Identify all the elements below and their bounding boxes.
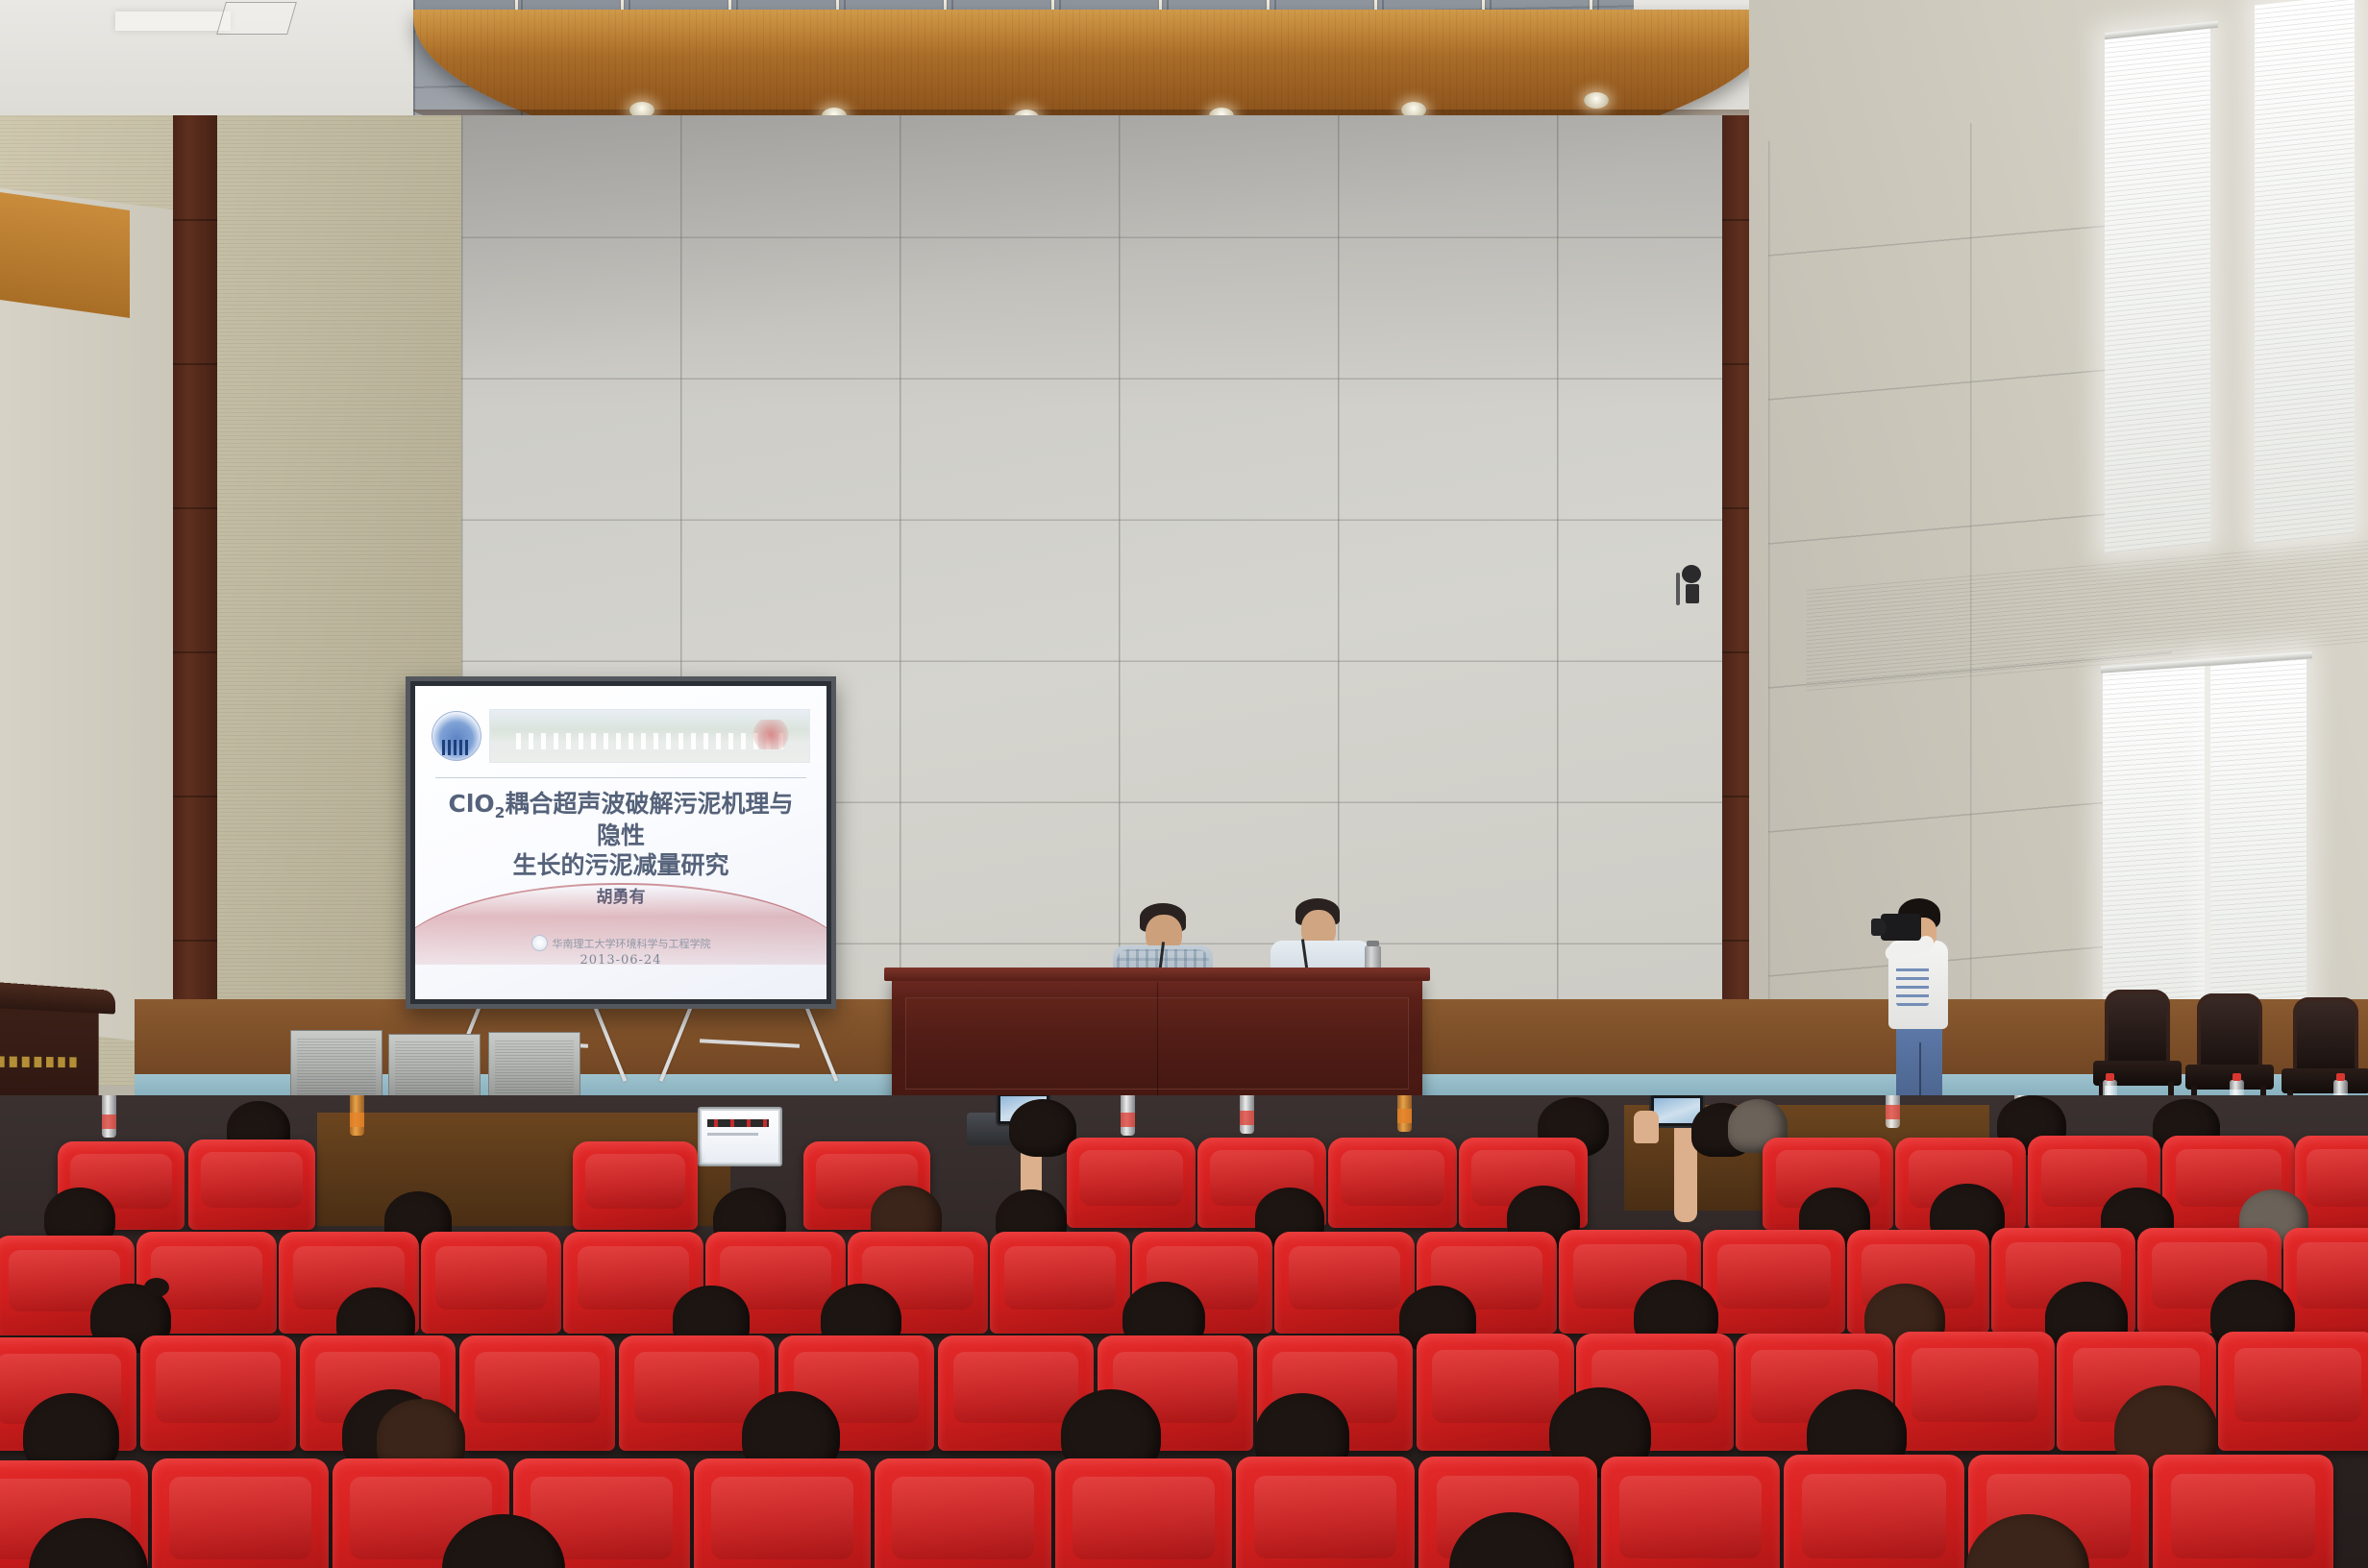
chair-back [2293, 997, 2358, 1074]
bottle-label [1240, 1111, 1254, 1125]
bottle-cap [2336, 1073, 2345, 1081]
slide-content: ClO2耦合超声波破解污泥机理与隐性 生长的污泥减量研究 胡勇有 华南理工大学环… [415, 686, 826, 999]
bottle-label [1121, 1113, 1135, 1127]
slide-institution: 华南理工大学环境科学与工程学院 [553, 936, 711, 951]
chair-back [2105, 990, 2170, 1066]
auditorium-seat[interactable] [421, 1232, 561, 1334]
slide-header [432, 698, 810, 773]
college-logo-icon [531, 935, 548, 951]
auditorium-seat[interactable] [2218, 1332, 2368, 1451]
auditorium-seat[interactable] [2153, 1455, 2333, 1568]
auditorium-seat[interactable] [2283, 1228, 2368, 1334]
auditorium-seat[interactable] [1601, 1457, 1780, 1568]
window-blind-upper-2 [2255, 0, 2355, 543]
auditorium-seat[interactable] [1067, 1138, 1196, 1228]
auditorium-seat[interactable] [152, 1458, 329, 1568]
window-blind-upper [2105, 23, 2210, 553]
auditorium-seat[interactable] [875, 1458, 1051, 1568]
projection-screen: ClO2耦合超声波破解污泥机理与隐性 生长的污泥减量研究 胡勇有 华南理工大学环… [406, 676, 836, 1009]
auditorium-seat[interactable] [140, 1335, 296, 1451]
hand [1634, 1111, 1659, 1143]
left-pilaster [173, 115, 217, 1086]
audience-seating [0, 1095, 2368, 1568]
camera-body [1686, 584, 1699, 603]
ceiling-light-slot [115, 12, 231, 31]
auditorium-seat[interactable] [1703, 1230, 1845, 1334]
bottle-label [1886, 1105, 1900, 1119]
bottle-label [350, 1113, 364, 1127]
ceiling-access-panel [216, 2, 297, 35]
slide-footer: 华南理工大学环境科学与工程学院 2013-06-24 [415, 935, 826, 968]
auditorium-seat[interactable] [1274, 1232, 1415, 1334]
camera-bracket [1676, 573, 1680, 605]
slide-title-line2: 生长的污泥减量研究 [512, 851, 728, 879]
camera-dome [1682, 565, 1701, 583]
left-wall-return [0, 188, 183, 1046]
auditorium-seat[interactable] [459, 1335, 615, 1451]
photographer [1879, 898, 1954, 1115]
stage-speaker-cabinet [388, 1034, 481, 1101]
auditorium-seat[interactable] [573, 1141, 698, 1230]
water-bottle [102, 1095, 116, 1138]
auditorium-seat[interactable] [1784, 1455, 1964, 1568]
audience-head [1009, 1099, 1076, 1157]
auditorium-seat[interactable] [1055, 1458, 1232, 1568]
podium-top-edge [884, 968, 1430, 981]
stage-speaker-cabinet [488, 1032, 580, 1103]
cctv-camera-icon [1676, 565, 1701, 611]
dslr-camera-icon [1881, 914, 1921, 941]
university-seal-icon [432, 711, 481, 761]
campus-banner-image [489, 709, 810, 763]
tea-bottle [1397, 1095, 1412, 1132]
auditorium-seat[interactable] [1895, 1332, 2055, 1451]
slide-footer-row: 华南理工大学环境科学与工程学院 [531, 935, 711, 951]
water-bottle [1240, 1095, 1254, 1134]
chair-back [2197, 993, 2262, 1070]
bottle-label [102, 1115, 116, 1129]
stage-armchair-3 [2280, 997, 2368, 1111]
water-bottle [1886, 1095, 1900, 1128]
slide-date: 2013-06-24 [580, 953, 662, 968]
blind-slats [2255, 0, 2355, 543]
auditorium-seat[interactable] [1328, 1138, 1457, 1228]
auditorium-seat[interactable] [188, 1139, 315, 1230]
blind-slats [2105, 23, 2210, 553]
tea-bottle [350, 1095, 364, 1136]
chair-seat [2282, 1068, 2368, 1093]
auditorium-seat[interactable] [694, 1458, 871, 1568]
left-wood-lintel [0, 192, 130, 318]
stage-speaker-cabinet [290, 1030, 382, 1101]
bottle-label [1397, 1109, 1412, 1123]
podium-table [892, 976, 1422, 1103]
slide-title-line1: ClO2耦合超声波破解污泥机理与隐性 [449, 790, 794, 850]
slide-title: ClO2耦合超声波破解污泥机理与隐性 生长的污泥减量研究 [440, 790, 802, 881]
auditorium-seat[interactable] [990, 1232, 1130, 1334]
hair-bun [144, 1278, 169, 1297]
slide-divider [435, 777, 805, 778]
laptop[interactable] [698, 1107, 782, 1166]
auditorium-photo: ClO2耦合超声波破解污泥机理与隐性 生长的污泥减量研究 胡勇有 华南理工大学环… [0, 0, 2368, 1568]
auditorium-seat[interactable] [1236, 1457, 1415, 1568]
bottle-cap [2106, 1073, 2114, 1081]
bottle-cap [2232, 1073, 2241, 1081]
podium-seam [1157, 982, 1158, 1097]
laptop-screen [702, 1111, 778, 1163]
lectern-nameplate [0, 1056, 77, 1067]
water-bottle [1121, 1095, 1135, 1136]
downlight [1584, 92, 1609, 109]
